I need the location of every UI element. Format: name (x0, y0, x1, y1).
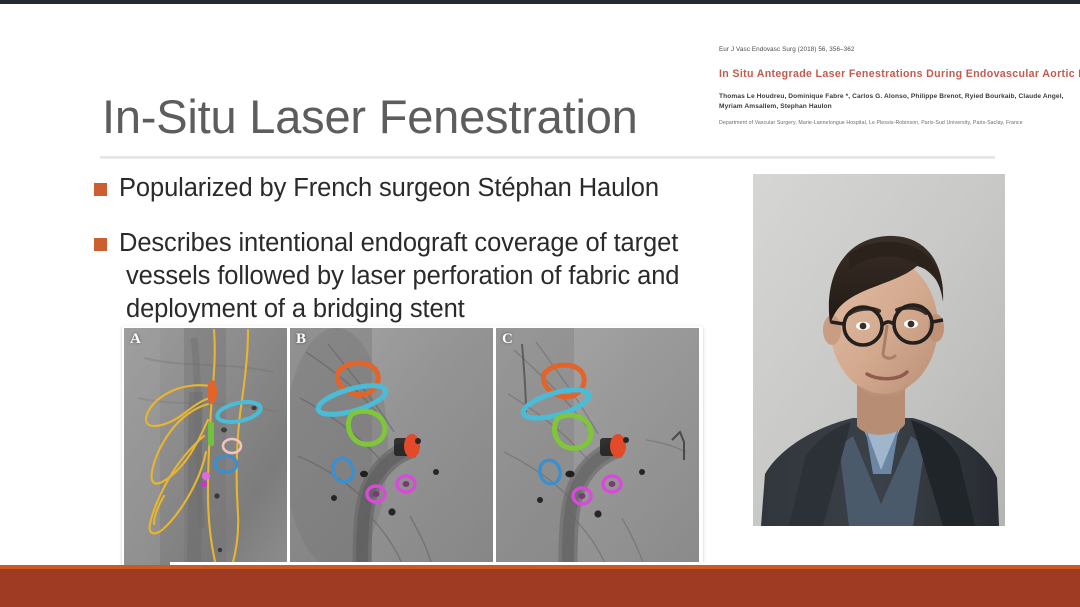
panel-c-image (496, 328, 699, 568)
bullet-text: Popularized by French surgeon Stéphan Ha… (119, 172, 659, 205)
article-authors: Thomas Le Houdreu, Dominique Fabre *, Ca… (719, 92, 1071, 112)
article-affiliation: Department of Vascular Surgery, Marie-La… (719, 120, 1075, 127)
top-edge-band (0, 0, 1080, 4)
slide-canvas: In-Situ Laser Fenestration Popularized b… (0, 0, 1080, 607)
figure-panel-b: B (290, 328, 493, 568)
panel-a-image (124, 328, 287, 568)
figure-panel-c: C (496, 328, 699, 568)
bullet-marker-icon (94, 183, 107, 196)
journal-article-clipping: Eur J Vasc Endovasc Surg (2018) 56, 356–… (719, 46, 1075, 128)
panel-b-image (290, 328, 493, 568)
bullet-list: Popularized by French surgeon Stéphan Ha… (94, 172, 714, 327)
angiogram-figure: A (122, 326, 703, 570)
panel-letter: A (130, 331, 141, 348)
portrait-illustration (753, 174, 1005, 526)
portrait-photo (753, 174, 1005, 526)
panel-letter: C (502, 331, 513, 348)
page-title: In-Situ Laser Fenestration (102, 92, 638, 141)
bullet-text: Describes intentional endograft coverage… (119, 227, 714, 326)
bottom-accent-bar (0, 565, 1080, 607)
journal-reference: Eur J Vasc Endovasc Surg (2018) 56, 356–… (719, 46, 1075, 53)
article-title: In Situ Antegrade Laser Fenestrations Du… (719, 68, 1075, 81)
figure-panel-a: A (124, 328, 287, 568)
panel-letter: B (296, 331, 306, 348)
list-item: Describes intentional endograft coverage… (94, 227, 714, 326)
title-divider (100, 156, 995, 159)
bullet-marker-icon (94, 238, 107, 251)
list-item: Popularized by French surgeon Stéphan Ha… (94, 172, 714, 205)
